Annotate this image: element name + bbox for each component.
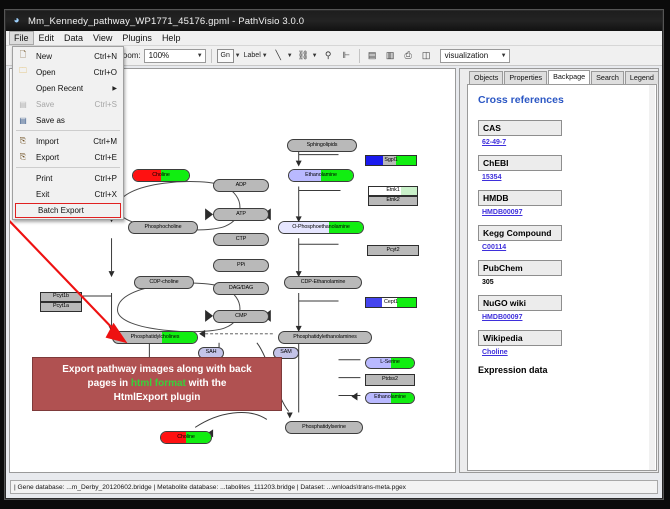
tab-backpage[interactable]: Backpage bbox=[548, 70, 590, 84]
chevron-down-icon[interactable]: ▼ bbox=[235, 53, 241, 59]
node-pcyt1a[interactable]: Pcyt1a bbox=[40, 302, 82, 312]
blank-icon bbox=[15, 81, 31, 95]
file-menu-save: ▤ Save Ctrl+S bbox=[13, 96, 123, 112]
node-label: SAH bbox=[206, 350, 217, 355]
line-tool[interactable]: ╲ ▼ bbox=[271, 48, 293, 63]
toolbar-separator-3 bbox=[211, 49, 212, 63]
chevron-down-icon: ▼ bbox=[197, 53, 203, 59]
file-menu-shortcut: Ctrl+X bbox=[95, 190, 123, 199]
callout-line1: Export pathway images along with back bbox=[62, 364, 252, 375]
node-label: Etnk2 bbox=[386, 198, 399, 203]
xref-value-kegg[interactable]: C00114 bbox=[482, 244, 648, 251]
folder-open-icon: 🗀 bbox=[15, 65, 31, 79]
callout-line2-a: pages in bbox=[88, 378, 131, 389]
file-menu-save-as[interactable]: ▤ Save as bbox=[13, 112, 123, 128]
blank-icon bbox=[15, 187, 31, 201]
node-label: ADP bbox=[236, 183, 247, 188]
menu-edit[interactable]: Edit bbox=[34, 31, 60, 45]
node-label: Choline bbox=[177, 435, 195, 440]
node-phosphocholine[interactable]: Phosphocholine bbox=[128, 221, 198, 234]
blank-icon bbox=[15, 171, 31, 185]
toolbar-separator-4 bbox=[359, 49, 360, 63]
tab-objects[interactable]: Objects bbox=[469, 71, 503, 84]
node-choline[interactable]: Choline bbox=[132, 169, 190, 182]
side-panel-scrollbar[interactable] bbox=[649, 85, 655, 470]
backpage-content: Cross references CAS 62-49-7 ChEBI 15354… bbox=[467, 84, 657, 471]
node-label: Sphingolipids bbox=[307, 143, 338, 148]
node-sgpl1[interactable]: Sgpl1 bbox=[365, 155, 417, 166]
node-l-serine[interactable]: L-Serine bbox=[365, 357, 415, 369]
save-icon: ▤ bbox=[15, 97, 31, 111]
file-menu-label: Open Recent bbox=[31, 84, 112, 93]
file-menu-label: Export bbox=[31, 153, 95, 162]
file-menu-shortcut: Ctrl+O bbox=[94, 68, 123, 77]
xref-value-hmdb[interactable]: HMDB00097 bbox=[482, 209, 648, 216]
file-menu-separator-1 bbox=[16, 130, 120, 131]
node-label: Ethanolamine bbox=[305, 173, 337, 178]
node-label: O-Phosphoethanolamine bbox=[292, 225, 350, 230]
expression-third-right bbox=[396, 156, 416, 165]
expression-data-title: Expression data bbox=[478, 365, 648, 375]
new-document-icon: 🗋 bbox=[15, 49, 31, 63]
align-columns-icon[interactable]: ▥ bbox=[383, 48, 398, 63]
line-icon: ╲ bbox=[271, 48, 286, 63]
file-menu-label: Import bbox=[31, 137, 93, 146]
expression-third-right bbox=[401, 187, 417, 195]
file-menu-label: Print bbox=[31, 174, 95, 183]
node-label: CDP-Ethanolamine bbox=[301, 280, 346, 285]
title-bar: ◕ Mm_Kennedy_pathway_WP1771_45176.gpml -… bbox=[6, 11, 662, 31]
node-adp[interactable]: ADP bbox=[213, 179, 269, 192]
screenshot-frame: ◕ Mm_Kennedy_pathway_WP1771_45176.gpml -… bbox=[0, 0, 670, 509]
callout-line3: HtmlExport plugin bbox=[114, 392, 201, 403]
cross-references-title: Cross references bbox=[478, 94, 648, 106]
chevron-down-icon: ▼ bbox=[501, 53, 507, 59]
node-phosphatidylethanolamines[interactable]: Phosphatidylethanolamines bbox=[278, 331, 372, 344]
xref-header-chebi: ChEBI bbox=[478, 155, 562, 171]
file-menu-shortcut: Ctrl+P bbox=[95, 174, 123, 183]
file-menu-label: Save bbox=[31, 100, 95, 109]
window-title: Mm_Kennedy_pathway_WP1771_45176.gpml - P… bbox=[28, 16, 304, 27]
node-label: Pcyt2 bbox=[387, 248, 400, 253]
xref-value-chebi[interactable]: 15354 bbox=[482, 174, 648, 181]
anchor-icon[interactable]: ⚲ bbox=[321, 48, 336, 63]
side-panel-tabs: Objects Properties Backpage Search Legen… bbox=[460, 69, 658, 84]
node-label: ATP bbox=[236, 212, 246, 217]
status-bar: | Gene database: ...m_Derby_20120602.bri… bbox=[6, 476, 662, 498]
node-cmp[interactable]: CMP bbox=[213, 310, 269, 323]
file-menu-exit[interactable]: Exit Ctrl+X bbox=[13, 186, 123, 202]
label-tool[interactable]: Label ▼ bbox=[244, 52, 268, 59]
node-atp[interactable]: ATP bbox=[213, 208, 269, 221]
xref-header-nugo: NuGO wiki bbox=[478, 295, 562, 311]
node-label: SAM bbox=[280, 350, 291, 355]
node-ethanolamine-top[interactable]: Ethanolamine bbox=[288, 169, 354, 182]
node-ppi[interactable]: PPi bbox=[213, 259, 269, 272]
shape-tool[interactable]: ⛓ ▼ bbox=[296, 48, 318, 63]
application-window: ◕ Mm_Kennedy_pathway_WP1771_45176.gpml -… bbox=[5, 10, 663, 499]
tab-properties[interactable]: Properties bbox=[504, 71, 547, 84]
file-menu-shortcut: Ctrl+M bbox=[93, 137, 123, 146]
xref-link-chebi[interactable]: 15354 bbox=[482, 174, 501, 181]
node-label: Sgpl1 bbox=[384, 158, 397, 163]
node-sphingolipids[interactable]: Sphingolipids bbox=[287, 139, 357, 152]
chevron-down-icon[interactable]: ▼ bbox=[287, 53, 293, 59]
menu-data[interactable]: Data bbox=[59, 31, 88, 45]
save-as-icon: ▤ bbox=[15, 113, 31, 127]
chevron-down-icon[interactable]: ▼ bbox=[262, 53, 268, 59]
node-ptdss2[interactable]: Ptdss2 bbox=[365, 374, 415, 386]
visualization-value: visualization bbox=[445, 51, 489, 60]
node-phosphatidylserine[interactable]: Phosphatidylserine bbox=[285, 421, 363, 434]
node-etnk2[interactable]: Etnk2 bbox=[368, 196, 418, 206]
node-label: Pcyt1a bbox=[53, 304, 69, 309]
node-label: Phosphocholine bbox=[145, 225, 182, 230]
tab-search[interactable]: Search bbox=[591, 71, 624, 84]
file-menu-separator-2 bbox=[16, 167, 120, 168]
xref-link-nugo[interactable]: HMDB00097 bbox=[482, 314, 522, 321]
node-label: CDP-choline bbox=[149, 280, 178, 285]
xref-value-cas[interactable]: 62-49-7 bbox=[482, 139, 648, 146]
node-label: CMP bbox=[235, 314, 247, 319]
pathvisio-icon: ◕ bbox=[10, 15, 23, 28]
file-menu-shortcut: Ctrl+E bbox=[95, 153, 123, 162]
file-menu-batch-export[interactable]: Batch Export bbox=[15, 203, 121, 218]
node-ethanolamine-bottom[interactable]: Ethanolamine bbox=[365, 392, 415, 404]
callout-highlight: html format bbox=[131, 378, 186, 389]
import-icon: ⎘ bbox=[15, 134, 31, 148]
file-menu-label: New bbox=[31, 52, 94, 61]
node-label: Phosphatidylcholines bbox=[131, 335, 180, 340]
node-cdp-choline[interactable]: CDP-choline bbox=[134, 276, 194, 289]
xref-header-cas: CAS bbox=[478, 120, 562, 136]
side-panel: Objects Properties Backpage Search Legen… bbox=[459, 68, 659, 473]
node-label: PPi bbox=[237, 263, 245, 268]
menu-help[interactable]: Help bbox=[157, 31, 186, 45]
node-choline-selected[interactable]: Choline bbox=[160, 431, 212, 444]
node-label: Etnk1 bbox=[386, 188, 399, 193]
node-label: L-Serine bbox=[380, 360, 400, 365]
node-phosphatidylcholines[interactable]: Phosphatidylcholines bbox=[112, 331, 198, 344]
file-menu-label: Open bbox=[31, 68, 94, 77]
node-label: CTP bbox=[236, 237, 246, 242]
callout-line2-b: with the bbox=[186, 378, 227, 389]
node-label: Pcyt1b bbox=[53, 294, 69, 299]
xref-header-pubchem: PubChem bbox=[478, 260, 562, 276]
file-menu-dropdown[interactable]: 🗋 New Ctrl+N 🗀 Open Ctrl+O Open Recent ▶… bbox=[12, 46, 124, 220]
node-label: Cept1 bbox=[384, 300, 398, 305]
node-pcyt2[interactable]: Pcyt2 bbox=[367, 245, 419, 256]
align-rows-icon[interactable]: ▤ bbox=[365, 48, 380, 63]
visualization-combobox[interactable]: visualization ▼ bbox=[440, 49, 510, 63]
xref-value-wikipedia[interactable]: Choline bbox=[482, 349, 648, 356]
menu-plugins[interactable]: Plugins bbox=[117, 31, 157, 45]
xref-link-cas[interactable]: 62-49-7 bbox=[482, 139, 506, 146]
xref-header-hmdb: HMDB bbox=[478, 190, 562, 206]
expression-third-left bbox=[366, 156, 383, 165]
print-icon[interactable]: ⎙ bbox=[401, 48, 416, 63]
datanode-tool[interactable]: Gn ▼ bbox=[217, 49, 241, 63]
export-icon: ⎘ bbox=[15, 150, 31, 164]
expression-third-left bbox=[366, 298, 382, 307]
zoom-value: 100% bbox=[149, 51, 169, 60]
node-cdp-ethanolamine[interactable]: CDP-Ethanolamine bbox=[284, 276, 362, 289]
xref-header-wikipedia: Wikipedia bbox=[478, 330, 562, 346]
file-menu-label: Batch Export bbox=[18, 206, 120, 215]
menu-bar: File Edit Data View Plugins Help bbox=[6, 31, 662, 46]
file-menu-export[interactable]: ⎘ Export Ctrl+E bbox=[13, 149, 123, 165]
expression-third-right bbox=[397, 298, 416, 307]
interaction-icon: ⛓ bbox=[296, 48, 311, 63]
node-label: Phosphatidylserine bbox=[302, 425, 346, 430]
genenode-icon: Gn bbox=[217, 49, 234, 63]
file-menu-label: Save as bbox=[31, 116, 117, 125]
node-label: Phosphatidylethanolamines bbox=[293, 335, 356, 340]
node-label: Choline bbox=[152, 173, 170, 178]
file-menu-open[interactable]: 🗀 Open Ctrl+O bbox=[13, 64, 123, 80]
file-menu-open-recent[interactable]: Open Recent ▶ bbox=[13, 80, 123, 96]
file-menu-print[interactable]: Print Ctrl+P bbox=[13, 170, 123, 186]
menu-file[interactable]: File bbox=[9, 31, 34, 45]
tab-legend[interactable]: Legend bbox=[625, 71, 659, 84]
callout-text: Export pathway images along with back pa… bbox=[62, 363, 252, 405]
xref-value-nugo[interactable]: HMDB00097 bbox=[482, 314, 648, 321]
zoom-combobox[interactable]: 100% ▼ bbox=[144, 49, 206, 63]
file-menu-shortcut: Ctrl+N bbox=[94, 52, 123, 61]
file-menu-label: Exit bbox=[31, 190, 95, 199]
node-ctp[interactable]: CTP bbox=[213, 233, 269, 246]
file-menu-shortcut: Ctrl+S bbox=[95, 100, 123, 109]
xref-header-kegg: Kegg Compound bbox=[478, 225, 562, 241]
status-text: | Gene database: ...m_Derby_20120602.bri… bbox=[10, 480, 658, 494]
node-pcyt1b[interactable]: Pcyt1b bbox=[40, 292, 82, 302]
node-label: DAG/DAG bbox=[229, 286, 253, 291]
xref-link-wikipedia[interactable]: Choline bbox=[482, 349, 508, 356]
submenu-arrow-icon: ▶ bbox=[112, 85, 123, 92]
file-menu-import[interactable]: ⎘ Import Ctrl+M bbox=[13, 133, 123, 149]
group-icon[interactable]: ⊩ bbox=[339, 48, 354, 63]
sidepanel-icon[interactable]: ◫ bbox=[419, 48, 434, 63]
annotation-callout: Export pathway images along with back pa… bbox=[32, 357, 282, 411]
node-cept1[interactable]: Cept1 bbox=[365, 297, 417, 308]
menu-view[interactable]: View bbox=[88, 31, 117, 45]
xref-link-kegg[interactable]: C00114 bbox=[482, 244, 506, 251]
node-label: Ptdss2 bbox=[382, 377, 398, 382]
node-dag[interactable]: DAG/DAG bbox=[213, 282, 269, 295]
xref-value-pubchem: 305 bbox=[482, 279, 648, 286]
file-menu-new[interactable]: 🗋 New Ctrl+N bbox=[13, 48, 123, 64]
node-etnk1[interactable]: Etnk1 bbox=[368, 186, 418, 196]
xref-link-hmdb[interactable]: HMDB00097 bbox=[482, 209, 522, 216]
node-o-phosphoethanolamine[interactable]: O-Phosphoethanolamine bbox=[278, 221, 364, 234]
chevron-down-icon[interactable]: ▼ bbox=[312, 53, 318, 59]
label-tool-label: Label bbox=[244, 52, 261, 59]
node-label: Ethanolamine bbox=[374, 395, 406, 400]
